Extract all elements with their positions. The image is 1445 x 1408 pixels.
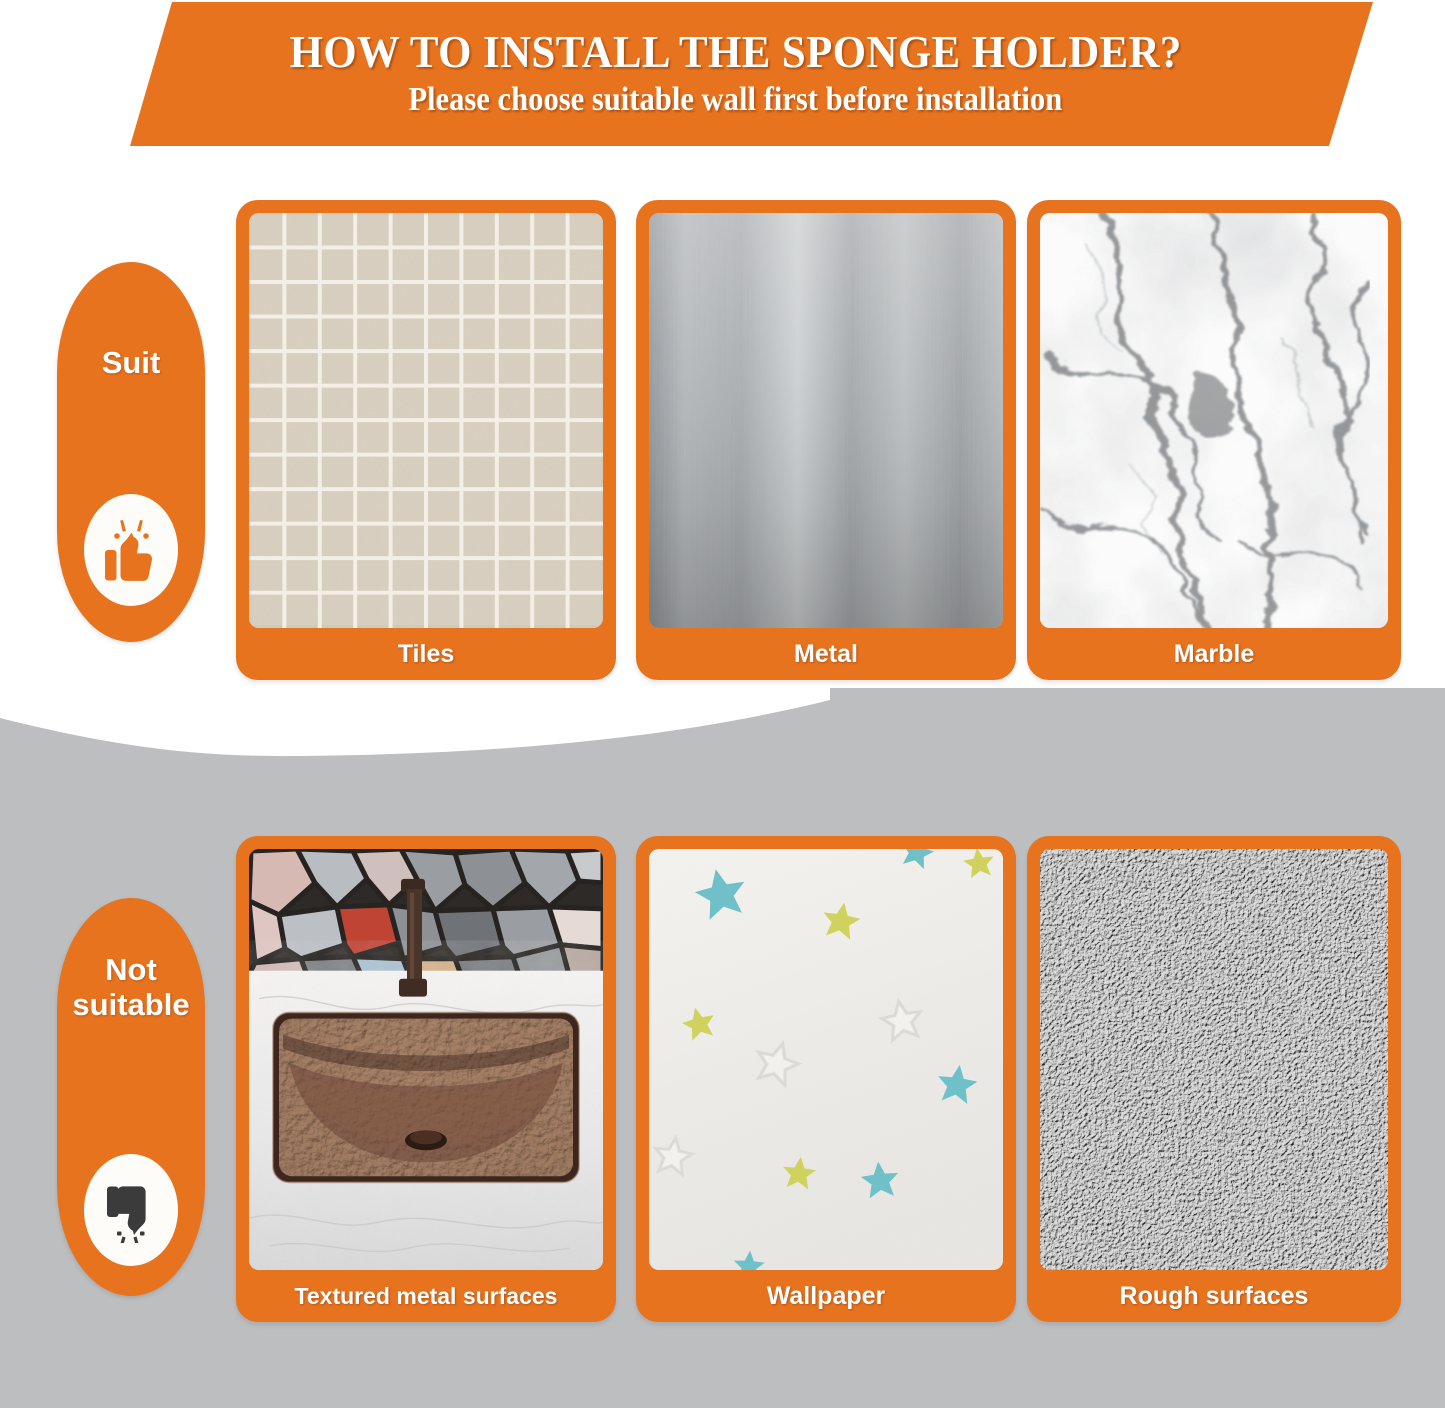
header-banner: HOW TO INSTALL THE SPONGE HOLDER? Please… <box>0 0 1445 148</box>
card-metal: Metal <box>636 200 1016 680</box>
badge-not-suitable-label-line1: Not <box>105 953 157 988</box>
thumbs-down-icon <box>84 1154 178 1266</box>
card-wallpaper: Wallpaper <box>636 836 1016 1322</box>
card-rough-caption: Rough surfaces <box>1040 1270 1388 1322</box>
card-metal-caption: Metal <box>649 628 1003 680</box>
badge-suit: Suit <box>57 262 205 642</box>
swatch-brushed-metal <box>649 213 1003 628</box>
card-tiles: Tiles <box>236 200 616 680</box>
card-textured-metal-caption: Textured metal surfaces <box>249 1270 603 1322</box>
thumbs-up-icon <box>84 494 178 606</box>
card-textured-metal-surfaces: Textured metal surfaces <box>236 836 616 1322</box>
card-wallpaper-caption: Wallpaper <box>649 1270 1003 1322</box>
swatch-stippled-stucco <box>1040 849 1388 1270</box>
badge-not-suitable-label-line2: suitable <box>72 988 189 1023</box>
swatch-white-marble <box>1040 213 1388 628</box>
swatch-star-wallpaper <box>649 849 1003 1270</box>
page-subtitle: Please choose suitable wall first before… <box>409 81 1063 119</box>
badge-suit-label: Suit <box>102 346 161 381</box>
card-rough-surfaces: Rough surfaces <box>1027 836 1401 1322</box>
badge-not-suitable: Not suitable <box>57 898 205 1296</box>
card-tiles-caption: Tiles <box>249 628 603 680</box>
card-marble-caption: Marble <box>1040 628 1388 680</box>
swatch-beige-mosaic-tile <box>249 213 603 628</box>
page-title: HOW TO INSTALL THE SPONGE HOLDER? <box>289 29 1181 76</box>
swatch-hammered-copper-sink <box>249 849 603 1270</box>
card-marble: Marble <box>1027 200 1401 680</box>
